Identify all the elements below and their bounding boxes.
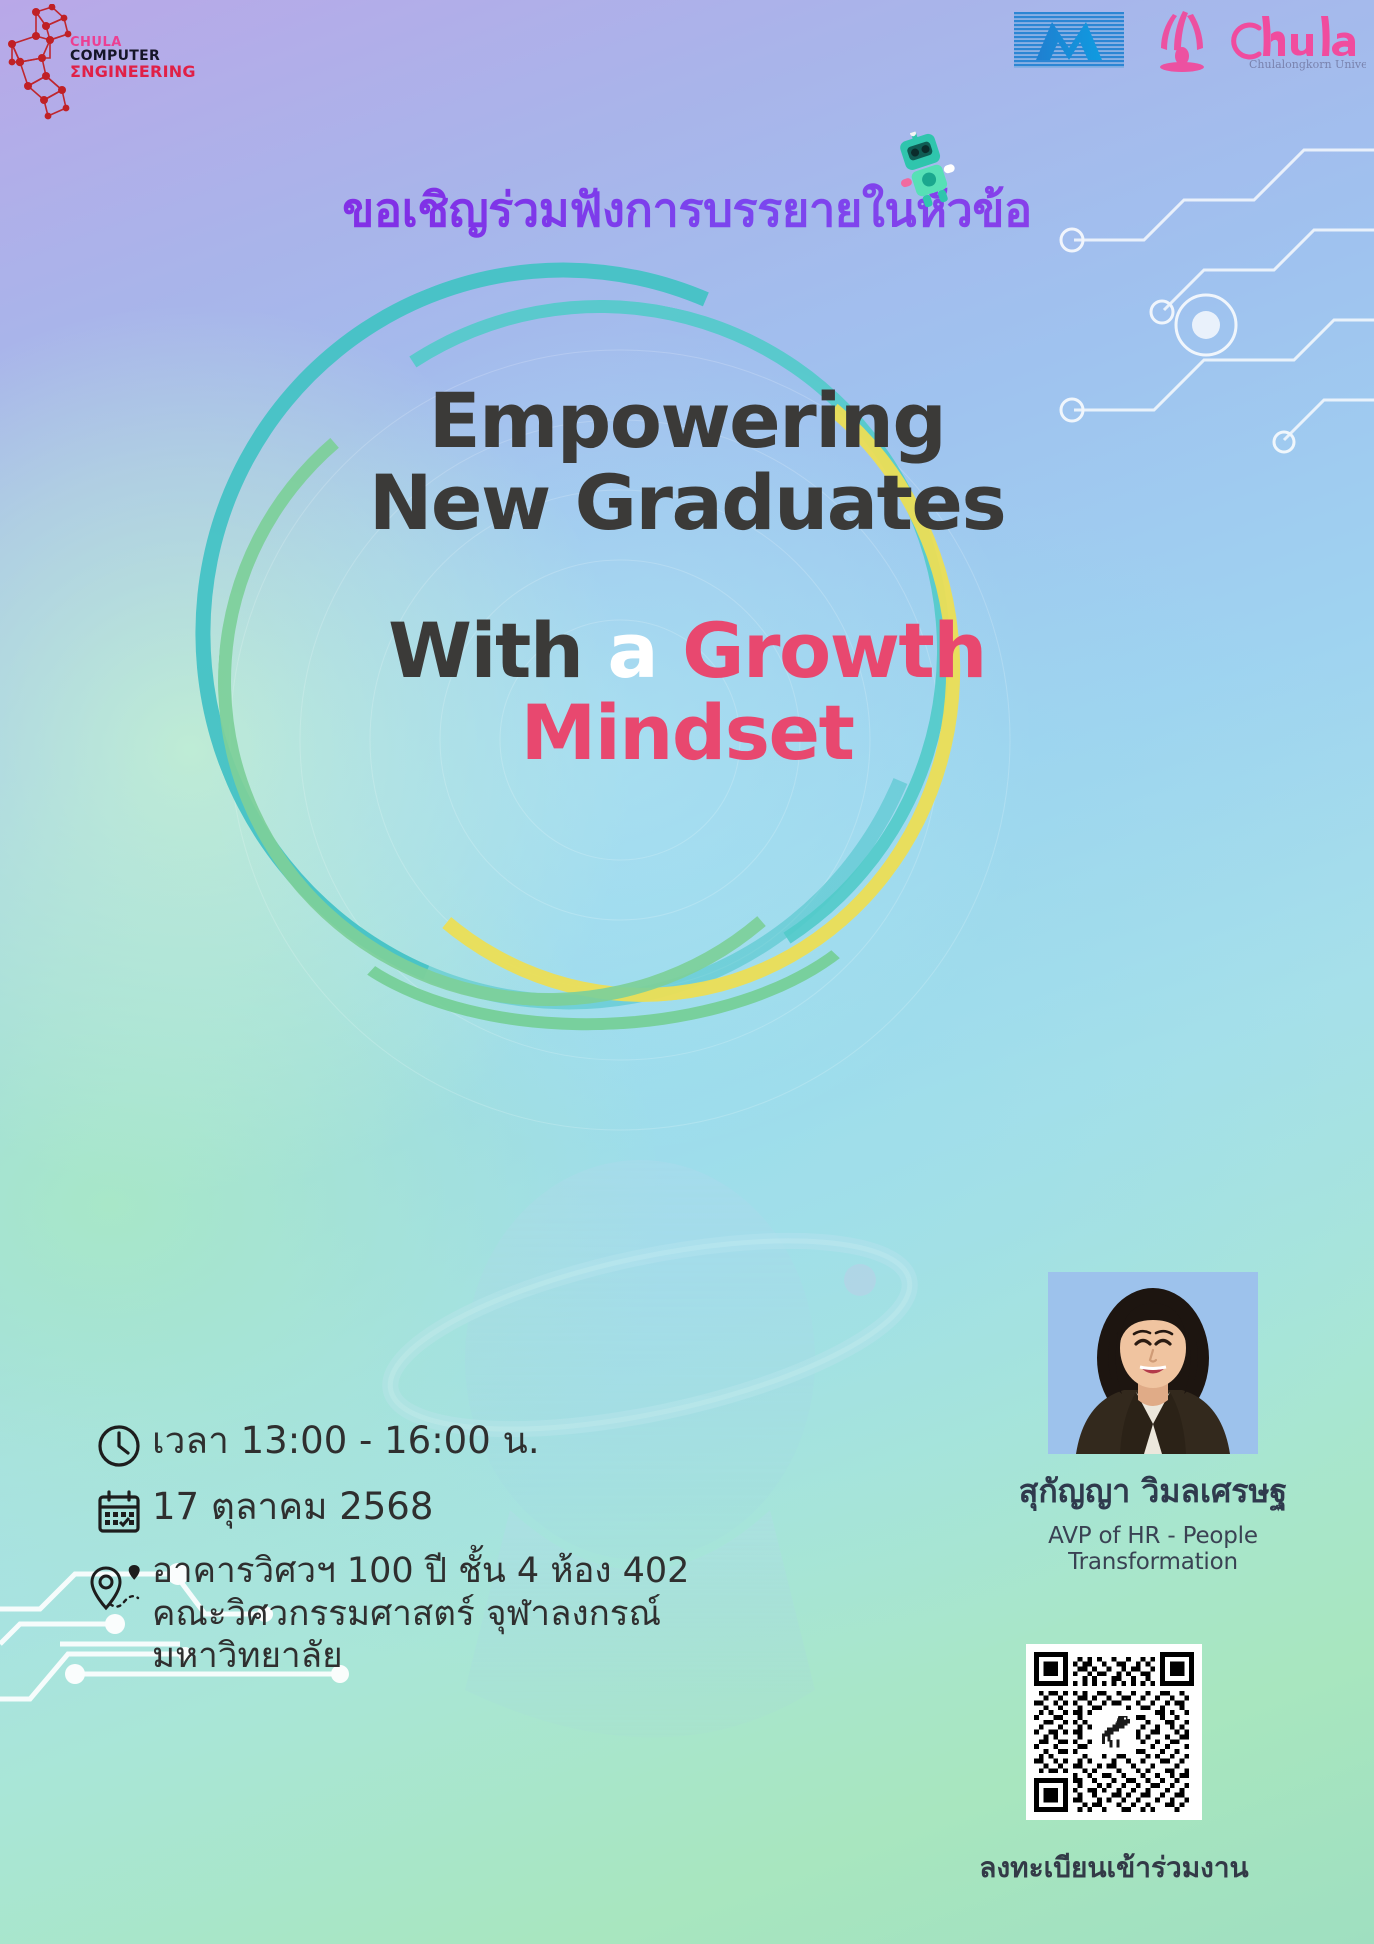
speaker-name: สุกัญญา วิมลเศรษฐ: [988, 1466, 1318, 1517]
detail-row-location: อาคารวิศวฯ 100 ปี ชั้น 4 ห้อง 402 คณะวิศ…: [86, 1550, 846, 1678]
speaker-role: AVP of HR - People Transformation: [988, 1523, 1318, 1575]
calendar-icon: [86, 1484, 152, 1536]
event-poster: CHULA COMPUTER ΣNGINEERING: [0, 0, 1374, 1944]
event-title: Empowering New Graduates With a Growth M…: [0, 380, 1374, 774]
event-details: เวลา 13:00 - 16:00 น. 17 ตุลาคม 2: [86, 1418, 846, 1692]
title-spacer: [0, 544, 1374, 610]
logo-wordmark: CHULA COMPUTER ΣNGINEERING: [70, 36, 196, 80]
title-line-3: With a Growth: [0, 610, 1374, 692]
registration-caption: ลงทะเบียนเข้าร่วมงาน: [954, 1846, 1274, 1890]
chula-computer-engineering-logo: CHULA COMPUTER ΣNGINEERING: [6, 4, 216, 124]
chulalongkorn-university-logo: Chulalongkorn University: [1131, 8, 1366, 74]
chula-subtitle: Chulalongkorn University: [1249, 58, 1366, 71]
title-line-2: New Graduates: [0, 462, 1374, 544]
page-headline: ขอเชิญร่วมฟังการบรรยายในหัวข้อ: [0, 172, 1374, 247]
m-logo-icon: [1014, 12, 1124, 68]
qr-code-image[interactable]: [1034, 1652, 1194, 1812]
title-line-1: Empowering: [0, 380, 1374, 462]
detail-time: เวลา 13:00 - 16:00 น.: [152, 1418, 540, 1463]
registration-qr-code[interactable]: [1026, 1644, 1202, 1820]
detail-date: 17 ตุลาคม 2568: [152, 1484, 433, 1529]
title-line-4: Mindset: [0, 692, 1374, 774]
title-a: a: [607, 606, 682, 695]
avatar: [1048, 1272, 1258, 1454]
detail-location-line1: อาคารวิศวฯ 100 ปี ชั้น 4 ห้อง 402: [152, 1550, 846, 1593]
detail-location: อาคารวิศวฯ 100 ปี ชั้น 4 ห้อง 402 คณะวิศ…: [152, 1550, 846, 1678]
detail-row-time: เวลา 13:00 - 16:00 น.: [86, 1418, 846, 1470]
clock-icon: [86, 1418, 152, 1470]
registration-block: ลงทะเบียนเข้าร่วมงาน: [954, 1644, 1274, 1890]
speaker-block: สุกัญญา วิมลเศรษฐ AVP of HR - People Tra…: [988, 1272, 1318, 1575]
map-pin-icon: [86, 1550, 152, 1622]
logo-line-chula: CHULA: [70, 36, 196, 49]
title-growth: Growth: [682, 606, 986, 695]
logo-line-engineering: ΣNGINEERING: [70, 64, 196, 80]
detail-location-line2: คณะวิศวกรรมศาสตร์ จุฬาลงกรณ์มหาวิทยาลัย: [152, 1593, 846, 1678]
title-with: With: [388, 606, 607, 695]
detail-row-date: 17 ตุลาคม 2568: [86, 1484, 846, 1536]
